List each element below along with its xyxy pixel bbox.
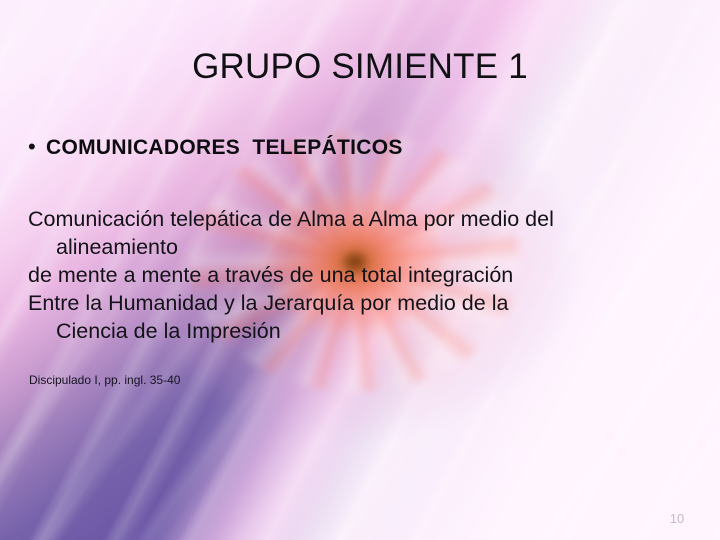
slide-content: GRUPO SIMIENTE 1 • COMUNICADORES TELEPÁT…: [0, 0, 720, 540]
body-text-block: Comunicación telepática de Alma a Alma p…: [28, 206, 694, 346]
body-text-line: de mente a mente a través de una total i…: [28, 262, 694, 290]
body-text-line: Entre la Humanidad y la Jerarquía por me…: [28, 290, 694, 318]
slide-title: GRUPO SIMIENTE 1: [0, 48, 720, 87]
body-text-line: Ciencia de la Impresión: [28, 318, 694, 346]
body-text-line: Comunicación telepática de Alma a Alma p…: [28, 206, 694, 234]
bullet-list-item: • COMUNICADORES TELEPÁTICOS: [28, 136, 403, 160]
source-citation: Discipulado I, pp. ingl. 35-40: [29, 373, 180, 387]
bullet-dot-icon: •: [28, 136, 46, 158]
slide-number: 10: [662, 512, 692, 525]
presentation-slide: GRUPO SIMIENTE 1 • COMUNICADORES TELEPÁT…: [0, 0, 720, 540]
body-text-line: alineamiento: [28, 234, 694, 262]
bullet-item-label: COMUNICADORES TELEPÁTICOS: [46, 136, 403, 160]
